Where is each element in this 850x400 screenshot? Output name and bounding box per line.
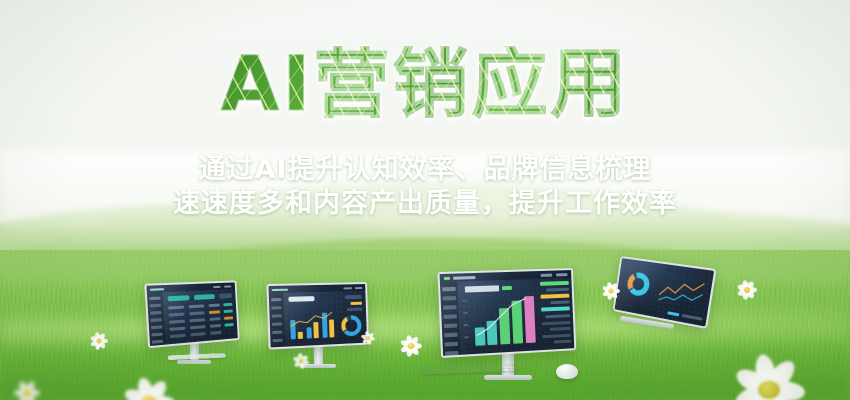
marketing-banner: AI营销应用 通过AI提升认知效率、品牌信息梳理 速速度多和内容产出质量，提升工… [0,0,850,400]
daisy-flower [735,278,759,302]
monitor-2-neck [314,346,323,364]
daisy-flower [398,333,424,359]
daisy-flower [601,281,621,301]
daisy-flower [360,330,376,346]
daisy-flower [12,378,42,400]
daisy-flower [118,372,180,400]
banner-title: AI营销应用 [220,46,629,122]
monitor-3-screen [437,268,576,358]
daisy-flower [88,330,110,352]
monitor-2-sidebar [269,293,285,348]
monitor-4-donut-chart [624,269,653,300]
monitor-2-screen [266,282,369,350]
mouse [556,364,578,379]
device-monitor-1 [146,282,242,364]
monitor-2-trend-line [289,308,336,332]
monitor-3-sidebar [440,282,461,356]
banner-title-wrap: AI营销应用 [0,46,850,122]
monitor-1-foot [177,360,211,364]
banner-subtitle-wrap: 通过AI提升认知效率、品牌信息梳理 速速度多和内容产出质量，提升工作效率 [0,153,850,221]
device-monitor-4 [612,262,712,325]
banner-subtitle-line-1: 通过AI提升认知效率、品牌信息梳理 [0,153,850,187]
monitor-3-trend-line [471,293,538,346]
daisy-flower [727,348,811,400]
monitor-1-sidebar [147,292,165,346]
grass-blend [0,220,850,280]
monitor-1-screen [144,280,239,348]
device-monitor-2 [268,283,368,368]
monitor-3-foot [484,375,532,380]
daisy-flower [292,352,310,370]
banner-subtitle-line-2: 速速度多和内容产出质量，提升工作效率 [0,187,850,221]
